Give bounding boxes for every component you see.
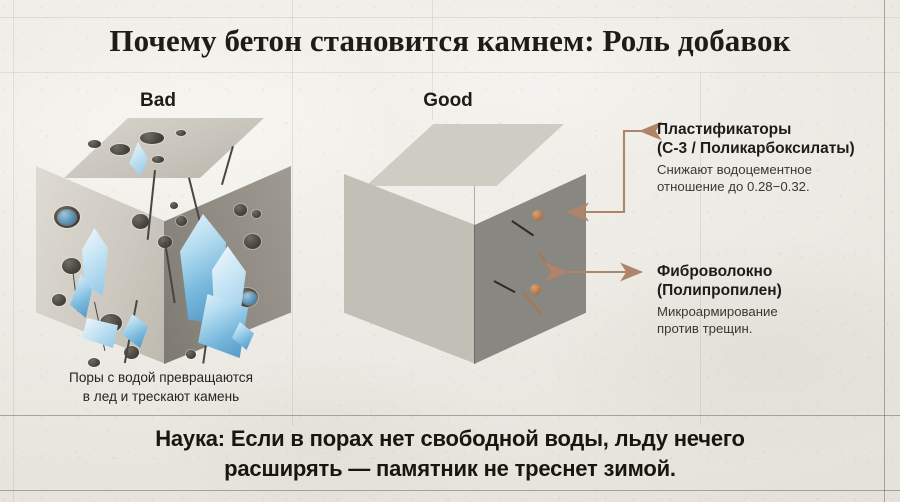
bad-cube-caption-line-1: Поры с водой превращаются xyxy=(36,368,286,387)
good-cube-top-face xyxy=(366,124,564,186)
seam-horizontal-top xyxy=(0,17,900,18)
footer-line-1: Наука: Если в порах нет свободной воды, … xyxy=(0,424,900,454)
footer-line-1-rest: Если в порах нет свободной воды, льду не… xyxy=(225,426,745,451)
bad-cube-caption: Поры с водой превращаются в лед и треска… xyxy=(36,368,286,406)
seam-horizontal-under-title xyxy=(0,72,900,73)
page-title: Почему бетон становится камнем: Роль доб… xyxy=(0,23,900,59)
annotation-plasticizer-heading-1: Пластификаторы xyxy=(657,120,855,139)
annotation-fibre-heading-1: Фиброволокно xyxy=(657,262,782,281)
annotation-plasticizer: Пластификаторы (С-3 / Поликарбоксилаты) … xyxy=(657,120,855,195)
infographic-canvas: Почему бетон становится камнем: Роль доб… xyxy=(0,0,900,502)
good-concrete-cube xyxy=(344,124,586,364)
good-cube-label: Good xyxy=(398,90,498,112)
bad-concrete-cube xyxy=(36,118,291,368)
fibre-marker xyxy=(530,284,541,295)
footer-lead: Наука: xyxy=(155,426,225,451)
annotation-plasticizer-body-2: отношение до 0.28−0.32. xyxy=(657,178,855,195)
seam-horizontal-footer-top xyxy=(0,415,900,416)
annotation-fibre-heading-2: (Полипропилен) xyxy=(657,281,782,300)
footer-line-2: расширять — памятник не треснет зимой. xyxy=(0,454,900,484)
seam-vertical-mid-left xyxy=(292,0,293,425)
annotation-fibre: Фиброволокно (Полипропилен) Микроармиров… xyxy=(657,262,782,337)
fibre-marker xyxy=(532,210,543,221)
annotation-fibre-body-2: против трещин. xyxy=(657,320,782,337)
footer-science-statement: Наука: Если в порах нет свободной воды, … xyxy=(0,424,900,484)
good-cube-right-face xyxy=(474,174,586,364)
good-cube-front-edge xyxy=(474,186,475,364)
bad-cube-caption-line-2: в лед и трескают камень xyxy=(36,387,286,406)
good-cube-left-face xyxy=(344,174,476,364)
annotation-fibre-body-1: Микроармирование xyxy=(657,303,782,320)
annotation-plasticizer-heading-2: (С-3 / Поликарбоксилаты) xyxy=(657,139,855,158)
bad-cube-label: Bad xyxy=(108,90,208,112)
seam-horizontal-footer-bottom xyxy=(0,490,900,491)
annotation-plasticizer-body-1: Снижают водоцементное xyxy=(657,161,855,178)
